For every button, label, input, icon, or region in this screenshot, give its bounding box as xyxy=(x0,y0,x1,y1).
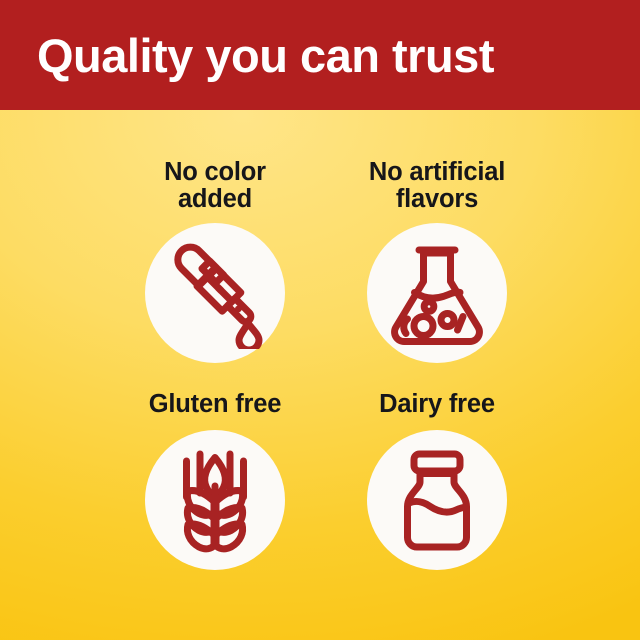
quality-badges-poster: Quality you can trust No color added xyxy=(0,0,640,640)
feature-item-dairy-free: Dairy free xyxy=(322,391,552,570)
feature-label: Gluten free xyxy=(149,391,281,418)
feature-label: Dairy free xyxy=(379,391,495,418)
feature-label: No artificial flavors xyxy=(369,159,505,214)
wheat-icon xyxy=(159,444,271,556)
header-banner: Quality you can trust xyxy=(0,0,640,110)
feature-grid: No color added xyxy=(0,110,640,640)
feature-item-no-color-added: No color added xyxy=(100,159,330,363)
feature-item-no-artificial-flavors: No artificial flavors xyxy=(322,159,552,363)
feature-icon-badge xyxy=(367,430,507,570)
feature-icon-badge xyxy=(367,223,507,363)
dropper-icon xyxy=(159,237,271,349)
page-title: Quality you can trust xyxy=(0,32,494,79)
milk-bottle-icon xyxy=(381,444,493,556)
feature-icon-badge xyxy=(145,223,285,363)
feature-label: No color added xyxy=(164,159,266,214)
flask-icon xyxy=(381,237,493,349)
feature-item-gluten-free: Gluten free xyxy=(100,391,330,570)
feature-icon-badge xyxy=(145,430,285,570)
